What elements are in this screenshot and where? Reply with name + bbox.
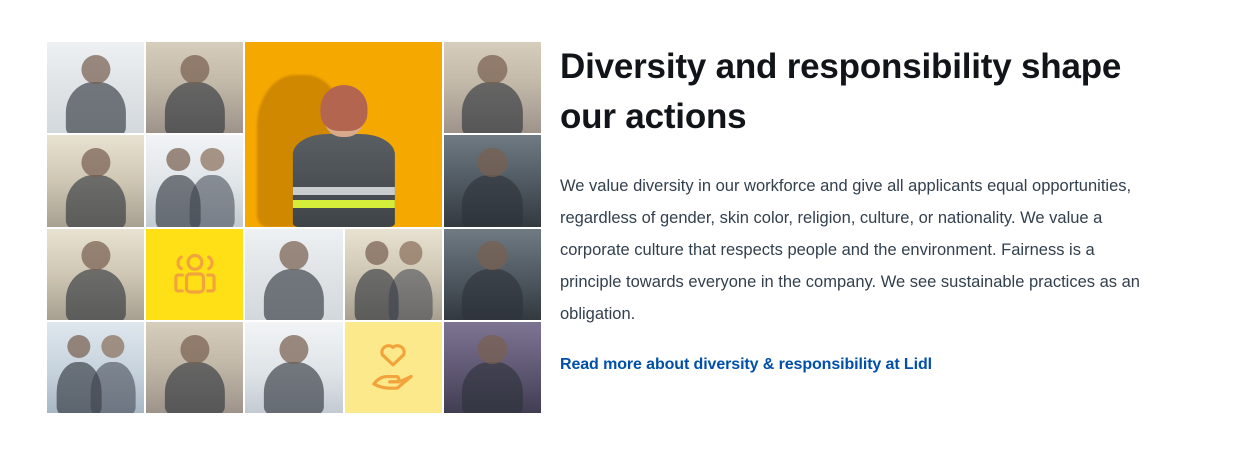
employee-photo-collage — [47, 42, 541, 413]
collage-tile-photo — [444, 42, 541, 133]
collage-tile-people-icon — [146, 229, 243, 320]
collage-tile-photo — [444, 322, 541, 413]
collage-tile-photo — [146, 135, 243, 226]
page-title: Diversity and responsibility shape our a… — [560, 42, 1160, 142]
collage-tile-photo — [146, 322, 243, 413]
collage-tile-photo — [444, 135, 541, 226]
collage-tile-photo — [345, 229, 442, 320]
heart-in-hand-icon — [365, 341, 421, 394]
body-paragraph: We value diversity in our workforce and … — [560, 170, 1156, 330]
collage-tile-photo — [146, 42, 243, 133]
collage-tile-hero-portrait — [245, 42, 441, 227]
collage-tile-photo — [444, 229, 541, 320]
collage-tile-photo — [47, 322, 144, 413]
collage-tile-photo — [245, 229, 342, 320]
collage-tile-photo — [245, 322, 342, 413]
hero-figure — [293, 90, 395, 227]
read-more-link[interactable]: Read more about diversity & responsibili… — [560, 356, 932, 374]
text-column: Diversity and responsibility shape our a… — [560, 42, 1160, 374]
collage-tile-photo — [47, 42, 144, 133]
collage-tile-heart-icon — [345, 322, 442, 413]
collage-tile-photo — [47, 135, 144, 226]
collage-tile-photo — [47, 229, 144, 320]
diversity-responsibility-section: Diversity and responsibility shape our a… — [0, 0, 1247, 456]
people-group-icon — [167, 248, 223, 301]
